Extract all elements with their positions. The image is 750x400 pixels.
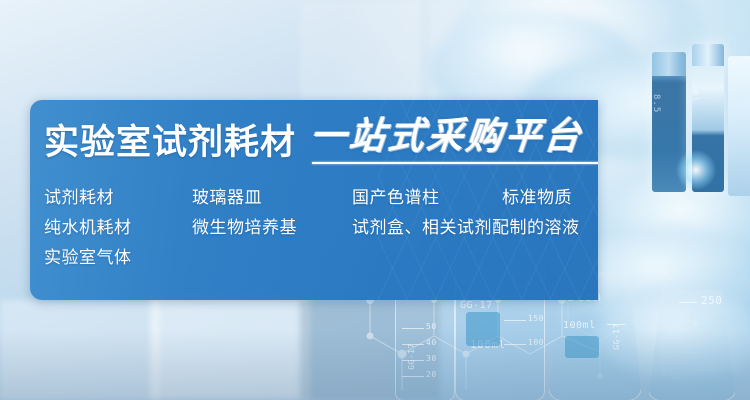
beaker-scale-label: 150	[528, 314, 544, 323]
vial-marking: 8.5	[651, 94, 661, 113]
banner-root: 8.5 ml 50 40 30 20 GG-17 APPROX 250 200 …	[0, 0, 750, 400]
headline-underline	[312, 162, 598, 164]
light-glare	[676, 150, 716, 190]
headline-calligraphy-text: 一站式采购平台	[308, 117, 585, 154]
category-item-reagent-kit-solutions[interactable]: 试剂盒、相关试剂配制的溶液	[352, 213, 580, 238]
category-item-glassware[interactable]: 玻璃器皿	[192, 183, 352, 208]
category-item-microbial-culture-medium[interactable]: 微生物培养基	[192, 213, 352, 238]
category-row: 纯水机耗材 微生物培养基 试剂盒、相关试剂配制的溶液	[44, 210, 594, 240]
category-item-reference-material[interactable]: 标准物质	[502, 183, 572, 208]
category-grid: 试剂耗材 玻璃器皿 国产色谱柱 标准物质 纯水机耗材 微生物培养基 试剂盒、相关…	[44, 180, 594, 270]
category-row: 试剂耗材 玻璃器皿 国产色谱柱 标准物质	[44, 180, 594, 210]
test-tube-vial-icon	[728, 56, 750, 196]
headline: 实验室试剂耗材 一站式采购平台	[44, 118, 583, 160]
vial-marking: ml	[690, 90, 700, 103]
vial-cap	[692, 44, 724, 66]
beaker-brand-label: GG-17	[460, 300, 493, 311]
bottom-shadow	[0, 330, 750, 400]
headline-bold-text: 实验室试剂耗材	[44, 125, 296, 160]
vial-cap	[652, 52, 686, 76]
category-item-domestic-chromatography-column[interactable]: 国产色谱柱	[352, 183, 502, 208]
promo-panel: 实验室试剂耗材 一站式采购平台 试剂耗材 玻璃器皿 国产色谱柱 标准物质 纯水机…	[30, 100, 598, 300]
category-row: 实验室气体	[44, 240, 594, 270]
category-item-water-purifier-consumables[interactable]: 纯水机耗材	[44, 213, 192, 238]
category-item-laboratory-gas[interactable]: 实验室气体	[44, 243, 192, 268]
category-item-reagent-consumables[interactable]: 试剂耗材	[44, 183, 192, 208]
beaker-scale-label: 250	[701, 294, 722, 307]
headline-calligraphy-wrap: 一站式采购平台	[310, 118, 583, 160]
